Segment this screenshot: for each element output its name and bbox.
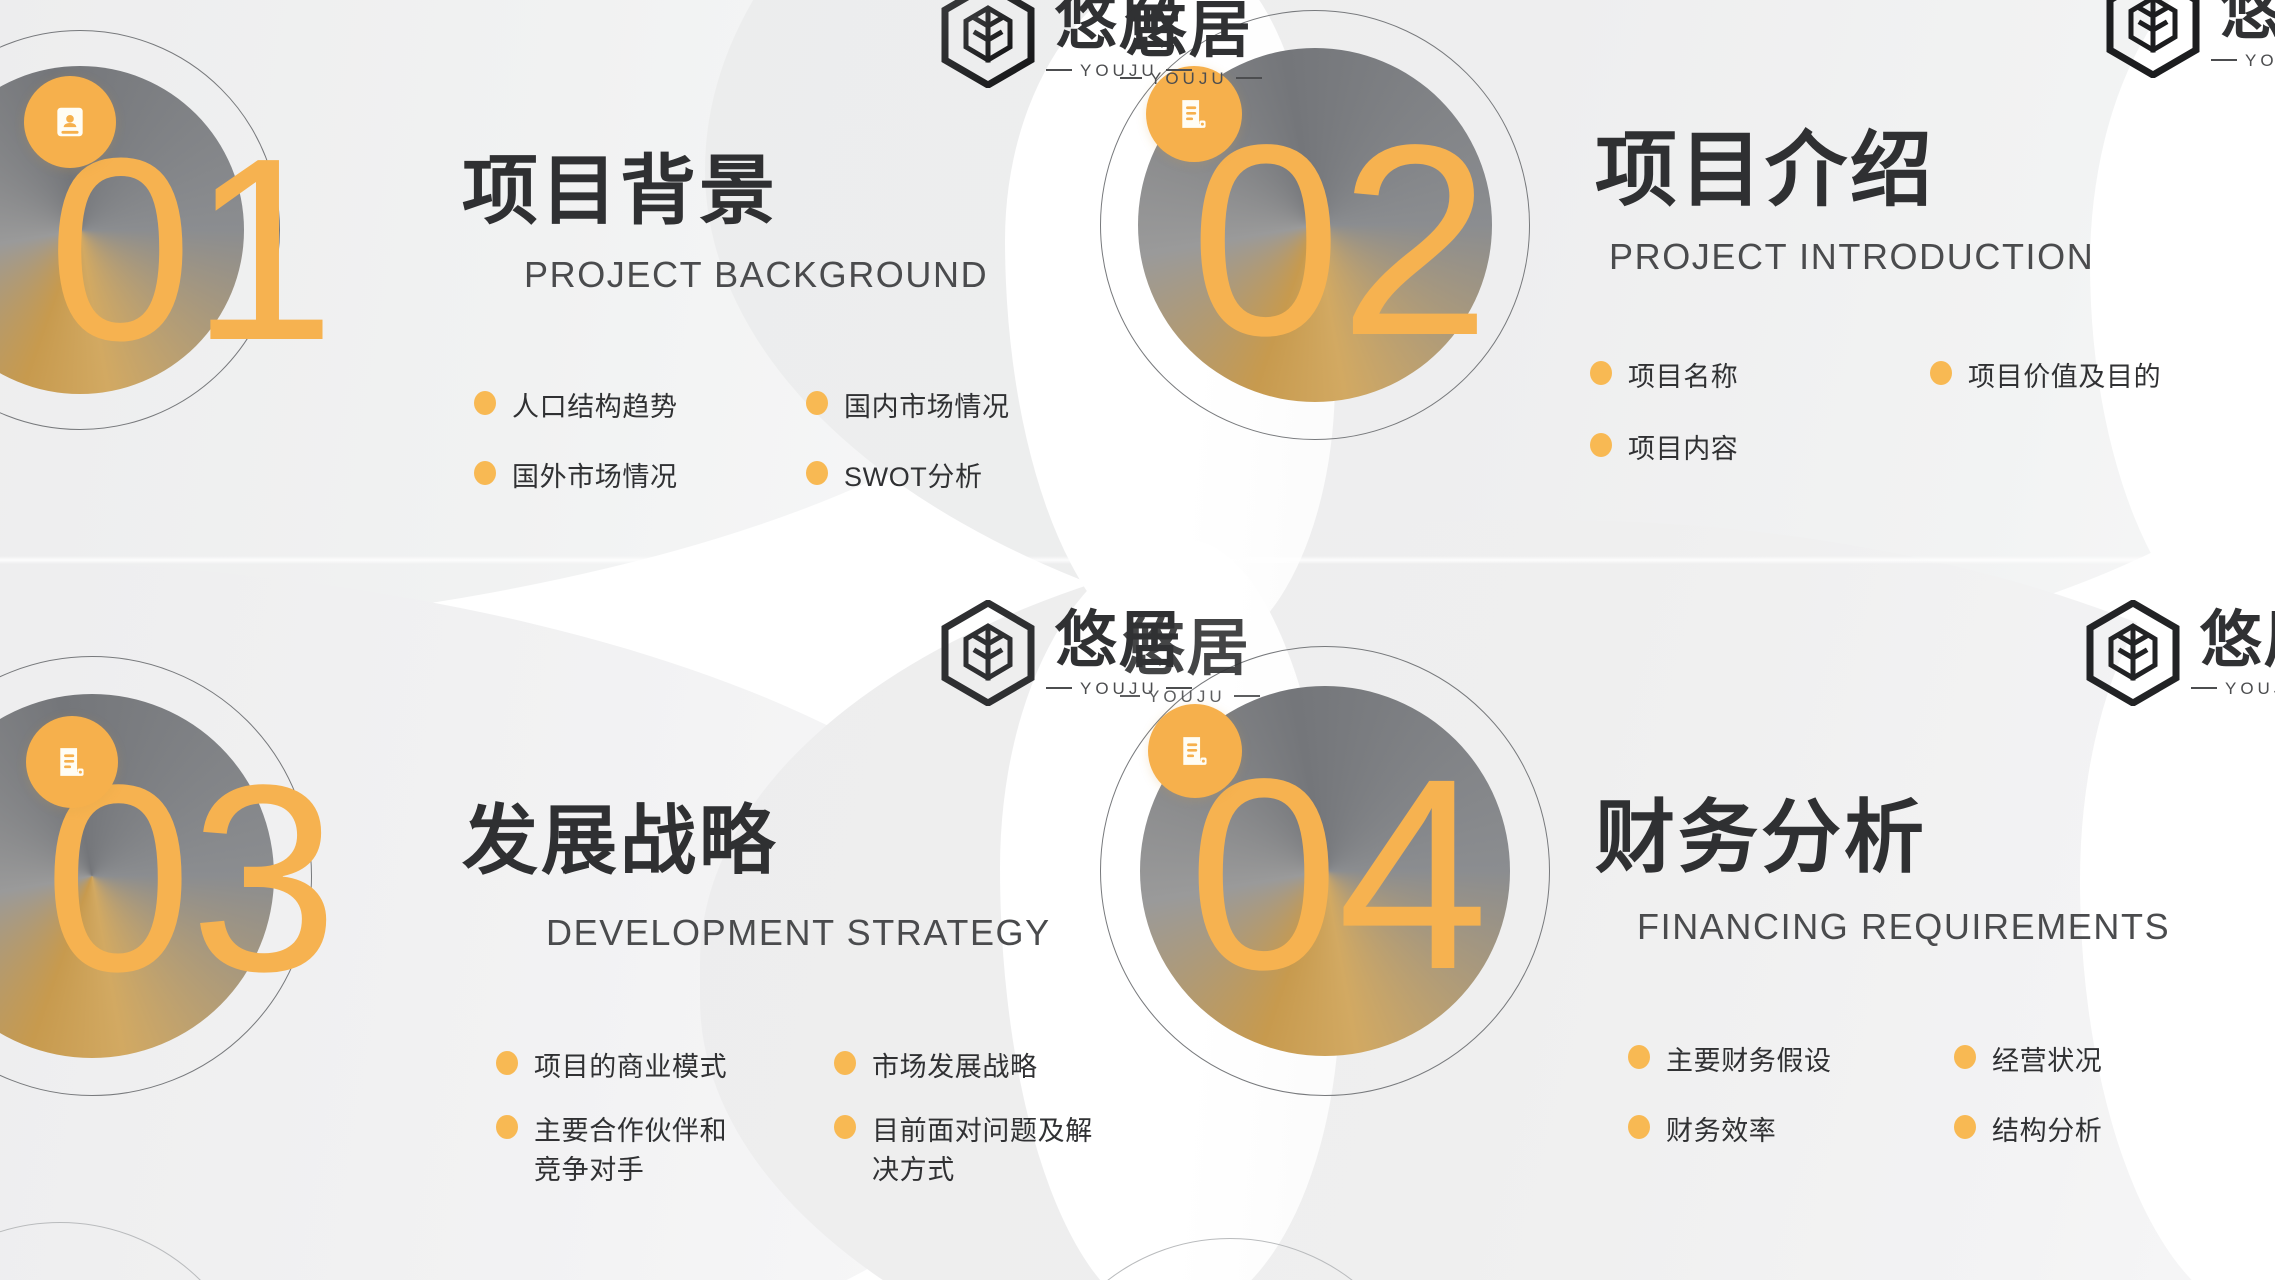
card-title-en-03: DEVELOPMENT STRATEGY xyxy=(546,912,1022,954)
bullet-label: 项目价值及目的 xyxy=(1968,358,2161,396)
hexagon-cube-logo-icon xyxy=(2105,0,2201,78)
bullet-label: 项目的商业模式 xyxy=(534,1048,727,1086)
card-bullets-01: 人口结构趋势 国内市场情况 国外市场情况 SWOT分析 xyxy=(474,388,1076,497)
bullet-item[interactable]: 人口结构趋势 xyxy=(474,388,744,426)
watermark-brand-cn: 悠居 xyxy=(1125,0,1253,62)
bullet-dot-icon xyxy=(834,1115,856,1139)
watermark-brand-en: YOUJU xyxy=(1120,70,1262,87)
bullet-item[interactable]: 项目的商业模式 xyxy=(496,1048,786,1086)
bullet-item[interactable]: 目前面对问题及解决方式 xyxy=(834,1112,1124,1189)
bullet-label: 财务效率 xyxy=(1666,1112,1776,1150)
bullet-dot-icon xyxy=(1628,1115,1650,1139)
bullet-item[interactable]: 国内市场情况 xyxy=(806,388,1076,426)
bullet-dot-icon xyxy=(834,1051,856,1075)
watermark-brand-cn: 悠居 xyxy=(2200,610,2275,672)
agenda-card-03[interactable]: 03 发展战略 DEVELOPMENT STRATEGY 项目的商业模式 xyxy=(0,556,1020,1280)
card-number-02: 02 xyxy=(1190,104,1489,376)
bullet-label: SWOT分析 xyxy=(844,458,983,496)
bullet-dot-icon xyxy=(1954,1045,1976,1069)
card-title-cn-01: 项目背景 xyxy=(462,152,982,232)
bullet-item[interactable]: SWOT分析 xyxy=(806,458,1076,496)
watermark-tail-top-right-card-clip: 悠居 YOUJU xyxy=(1120,608,1300,728)
card-icon-badge-01[interactable] xyxy=(24,76,116,168)
bullet-item[interactable]: 主要合作伙伴和竞争对手 xyxy=(496,1112,786,1189)
bullet-item[interactable]: 主要财务假设 xyxy=(1628,1042,1898,1080)
card-bullets-04: 主要财务假设 经营状况 财务效率 结构分析 xyxy=(1628,1042,2214,1151)
card-title-en-02: PROJECT INTRODUCTION xyxy=(1609,236,2215,278)
bullet-item[interactable]: 国外市场情况 xyxy=(474,458,744,496)
bullet-item[interactable]: 项目价值及目的 xyxy=(1930,358,2230,396)
bullet-label: 经营状况 xyxy=(1992,1042,2102,1080)
bullet-dot-icon xyxy=(1628,1045,1650,1069)
bullet-dot-icon xyxy=(806,461,828,485)
bullet-label: 结构分析 xyxy=(1992,1112,2102,1150)
bullet-label: 主要合作伙伴和竞争对手 xyxy=(534,1112,750,1189)
hexagon-cube-logo-icon xyxy=(940,600,1036,706)
watermark-top-right-clip: 悠居 YOUJU xyxy=(2105,0,2275,92)
bullet-label: 项目名称 xyxy=(1628,358,1738,396)
bullet-item[interactable]: 经营状况 xyxy=(1954,1042,2214,1080)
id-card-icon xyxy=(51,103,89,141)
bullet-dot-icon xyxy=(496,1051,518,1075)
watermark-mid-left-clip: 悠居 YOUJU xyxy=(1120,0,1300,105)
watermark-brand-en: YOUJU xyxy=(2211,52,2275,69)
bullet-item[interactable]: 项目内容 xyxy=(1590,430,1872,468)
card-text-04: 财务分析 FINANCING REQUIREMENTS xyxy=(1595,796,2215,948)
watermark-bottom-right: 悠居 YOUJU xyxy=(2085,600,2275,706)
card-bullets-02: 项目名称 项目价值及目的 项目内容 xyxy=(1590,358,2230,469)
bullet-dot-icon xyxy=(474,391,496,415)
card-text-02: 项目介绍 PROJECT INTRODUCTION xyxy=(1595,128,2215,278)
bullet-label: 国内市场情况 xyxy=(844,388,1010,426)
document-receipt-icon xyxy=(1176,732,1214,770)
bullet-label: 目前面对问题及解决方式 xyxy=(872,1112,1104,1189)
bullet-dot-icon xyxy=(1954,1115,1976,1139)
bullet-label: 市场发展战略 xyxy=(872,1048,1038,1086)
card-title-en-04: FINANCING REQUIREMENTS xyxy=(1637,906,2215,948)
card-text-01: 项目背景 PROJECT BACKGROUND xyxy=(462,152,982,296)
bullet-item[interactable]: 项目名称 xyxy=(1590,358,1872,396)
watermark-brand-en: YOUJU xyxy=(2191,680,2275,697)
card-text-03: 发展战略 DEVELOPMENT STRATEGY xyxy=(462,802,1022,954)
bullet-dot-icon xyxy=(1590,361,1612,385)
bullet-label: 项目内容 xyxy=(1628,430,1738,468)
watermark-mid-left: 悠居 YOUJU xyxy=(1120,0,1262,96)
card-title-cn-03: 发展战略 xyxy=(462,802,1022,882)
bullet-label: 主要财务假设 xyxy=(1666,1042,1832,1080)
bullet-dot-icon xyxy=(496,1115,518,1139)
bullet-item[interactable]: 市场发展战略 xyxy=(834,1048,1124,1086)
hexagon-cube-logo-icon xyxy=(2085,600,2181,706)
card-title-cn-02: 项目介绍 xyxy=(1595,128,2215,214)
watermark-text-group: 悠居 YOUJU xyxy=(2211,0,2275,69)
watermark-text-group: 悠居 YOUJU xyxy=(2191,610,2275,697)
card-title-cn-04: 财务分析 xyxy=(1595,796,2215,880)
bullet-dot-icon xyxy=(1930,361,1952,385)
agenda-card-01[interactable]: 01 项目背景 PROJECT BACKGROUND 人口结构趋势 xyxy=(0,0,1020,556)
card-title-en-01: PROJECT BACKGROUND xyxy=(524,254,982,296)
document-receipt-icon xyxy=(53,743,91,781)
card-bullets-03: 项目的商业模式 市场发展战略 主要合作伙伴和竞争对手 目前面对问题及解决方式 xyxy=(496,1048,1124,1189)
bullet-item[interactable]: 结构分析 xyxy=(1954,1112,2214,1150)
hexagon-cube-logo-icon xyxy=(940,0,1036,88)
watermark-brand-cn: 悠居 xyxy=(1123,618,1251,680)
bullet-dot-icon xyxy=(1590,433,1612,457)
bullet-dot-icon xyxy=(806,391,828,415)
bullet-dot-icon xyxy=(474,461,496,485)
watermark-text-group: 悠居 YOUJU xyxy=(1120,618,1260,705)
bullet-label: 国外市场情况 xyxy=(512,458,678,496)
watermark-top-right: 悠居 YOUJU xyxy=(2105,0,2275,78)
slide-canvas: 01 项目背景 PROJECT BACKGROUND 人口结构趋势 xyxy=(0,0,2275,1280)
bullet-label: 人口结构趋势 xyxy=(512,388,678,426)
watermark-brand-en: YOUJU xyxy=(1120,688,1260,705)
watermark-text-group: 悠居 YOUJU xyxy=(1120,0,1262,87)
watermark-bottom-right-clip: 悠居 YOUJU xyxy=(2085,600,2275,728)
card-icon-badge-03[interactable] xyxy=(26,716,118,808)
bullet-item[interactable]: 财务效率 xyxy=(1628,1112,1898,1150)
watermark-brand-cn: 悠居 xyxy=(2220,0,2275,44)
watermark-tail-top-right-card: 悠居 YOUJU xyxy=(1120,608,1260,714)
